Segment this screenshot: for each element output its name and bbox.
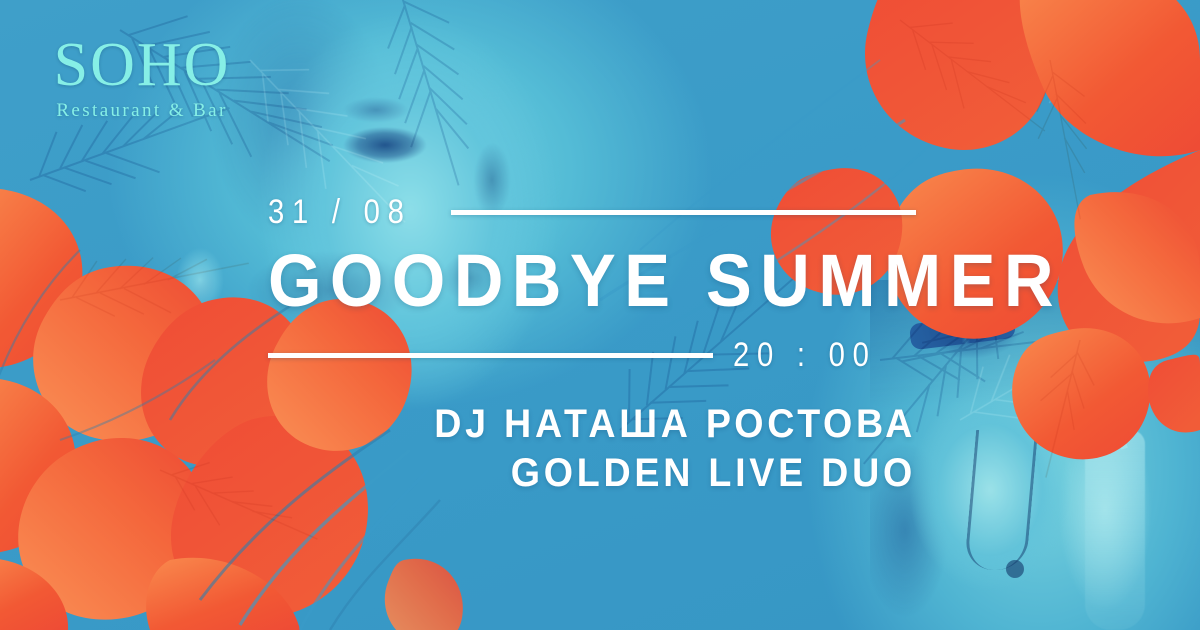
time-rule (268, 353, 713, 358)
event-poster: SOHO Restaurant & Bar 31 / 08 GOODBYE SU… (0, 0, 1200, 630)
lineup-item: DJ НАТАША РОСТОВА (307, 400, 916, 449)
blob-cluster-bottom-centre (385, 559, 463, 630)
lineup-list: DJ НАТАША РОСТОВА GOLDEN LIVE DUO (268, 400, 916, 498)
date-rule (451, 210, 916, 215)
event-title: GOODBYE SUMMER (268, 244, 871, 318)
event-details: 31 / 08 GOODBYE SUMMER 20 : 00 DJ НАТАША… (268, 190, 916, 498)
event-date: 31 / 08 (268, 193, 412, 232)
time-row: 20 : 00 (268, 332, 916, 378)
logo-tagline: Restaurant & Bar (42, 100, 242, 122)
logo-wordmark: SOHO (42, 34, 242, 96)
lineup-item: GOLDEN LIVE DUO (307, 449, 916, 498)
date-row: 31 / 08 (268, 190, 916, 234)
event-time: 20 : 00 (733, 336, 877, 375)
soho-logo: SOHO Restaurant & Bar (42, 34, 242, 122)
